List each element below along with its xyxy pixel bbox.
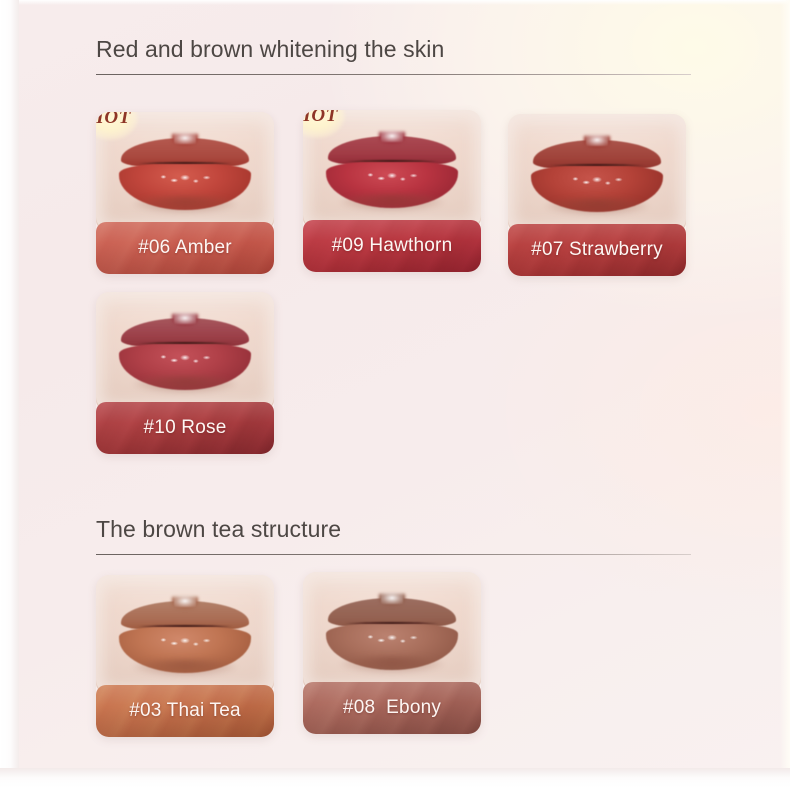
lip-swatch-photo-strawberry (508, 114, 686, 232)
photo-vignette (96, 575, 274, 693)
shade-name: #07 Strawberry (531, 239, 663, 261)
shade-name: #06 Amber (138, 237, 232, 259)
product-card-ebony[interactable]: #08 Ebony (303, 572, 481, 734)
hot-badge-label: HOT (96, 112, 131, 129)
product-card-rose[interactable]: #10 Rose (96, 292, 274, 454)
section-divider (96, 554, 691, 555)
section-divider (96, 74, 691, 75)
lip-swatch-photo-thai-tea (96, 575, 274, 693)
shade-name: #08 Ebony (343, 697, 441, 719)
product-card-amber[interactable]: #06 Amber HOT (96, 112, 274, 274)
shade-label-bar-hawthorn: #09 Hawthorn (303, 220, 481, 272)
shade-label-bar-rose: #10 Rose (96, 402, 274, 454)
lip-swatch-photo-rose (96, 292, 274, 410)
frame-edge-bottom (0, 768, 790, 788)
shade-label-bar-ebony: #08 Ebony (303, 682, 481, 734)
shade-name: #03 Thai Tea (129, 700, 241, 722)
shade-name: #09 Hawthorn (332, 235, 453, 257)
hot-badge-hawthorn[interactable]: HOT (303, 110, 345, 138)
shade-label-bar-amber: #06 Amber (96, 222, 274, 274)
photo-vignette (508, 114, 686, 232)
product-card-hawthorn[interactable]: #09 Hawthorn HOT (303, 110, 481, 272)
shade-label-bar-strawberry: #07 Strawberry (508, 224, 686, 276)
shade-name: #10 Rose (144, 417, 227, 439)
shade-label-bar-thai-tea: #03 Thai Tea (96, 685, 274, 737)
frame-edge-left (0, 0, 19, 788)
product-shade-page: Red and brown whitening the skin #06 Amb… (0, 0, 790, 788)
section-title: Red and brown whitening the skin (96, 36, 691, 63)
lip-swatch-photo-ebony (303, 572, 481, 690)
frame-edge-right (780, 0, 790, 788)
hot-badge-label: HOT (303, 110, 338, 127)
frame-edge-top (0, 0, 790, 5)
photo-vignette (303, 572, 481, 690)
section-heading-red-brown: Red and brown whitening the skin (96, 36, 691, 75)
section-title: The brown tea structure (96, 516, 691, 543)
section-heading-brown-tea: The brown tea structure (96, 516, 691, 555)
product-card-thai-tea[interactable]: #03 Thai Tea (96, 575, 274, 737)
photo-vignette (96, 292, 274, 410)
hot-badge-amber[interactable]: HOT (96, 112, 138, 140)
product-card-strawberry[interactable]: #07 Strawberry (508, 114, 686, 276)
